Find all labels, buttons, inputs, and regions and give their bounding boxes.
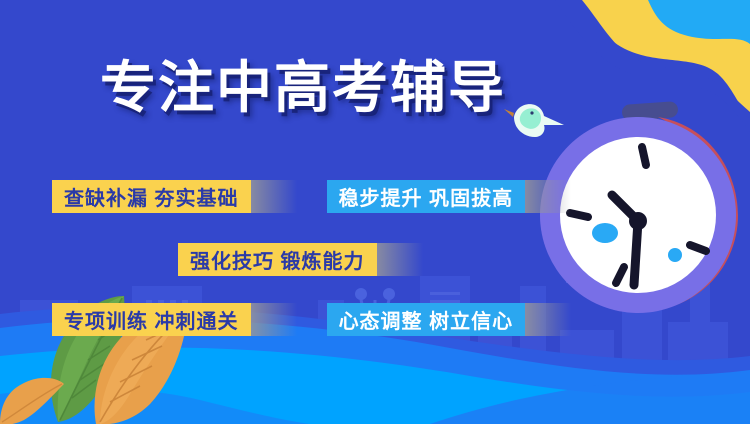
tag-tail-gradient — [525, 180, 571, 213]
tag-tail-gradient — [251, 180, 297, 213]
clock-dot-large — [592, 223, 618, 243]
feature-tag-row-3: 专项训练 冲刺通关 心态调整 树立信心 — [52, 303, 571, 336]
tag-spacer — [297, 196, 327, 197]
feature-tag-label: 心态调整 树立信心 — [339, 305, 514, 334]
feature-tag-row-1: 查缺补漏 夯实基础 稳步提升 巩固拔高 — [52, 180, 571, 213]
feature-tag-row-2: 强化技巧 锻炼能力 — [178, 243, 423, 276]
feature-tag[interactable]: 心态调整 树立信心 — [327, 303, 526, 336]
feature-tag-label: 强化技巧 锻炼能力 — [190, 245, 365, 274]
tag-spacer — [297, 319, 327, 320]
feature-tag-label: 专项训练 冲刺通关 — [64, 305, 239, 334]
page-title: 专注中高考辅导 — [100, 58, 506, 120]
feature-tag[interactable]: 专项训练 冲刺通关 — [52, 303, 251, 336]
feature-tag-label: 查缺补漏 夯实基础 — [64, 182, 239, 211]
feature-tag[interactable]: 稳步提升 巩固拔高 — [327, 180, 526, 213]
tag-tail-gradient — [377, 243, 423, 276]
promo-banner: 专注中高考辅导 查缺补漏 夯实基础 稳步提升 巩固拔高 强化技巧 锻炼能力 专项… — [0, 0, 750, 424]
feature-tag-label: 稳步提升 巩固拔高 — [339, 182, 514, 211]
tag-tail-gradient — [251, 303, 297, 336]
feature-tag[interactable]: 强化技巧 锻炼能力 — [178, 243, 377, 276]
feature-tag[interactable]: 查缺补漏 夯实基础 — [52, 180, 251, 213]
tag-tail-gradient — [525, 303, 571, 336]
